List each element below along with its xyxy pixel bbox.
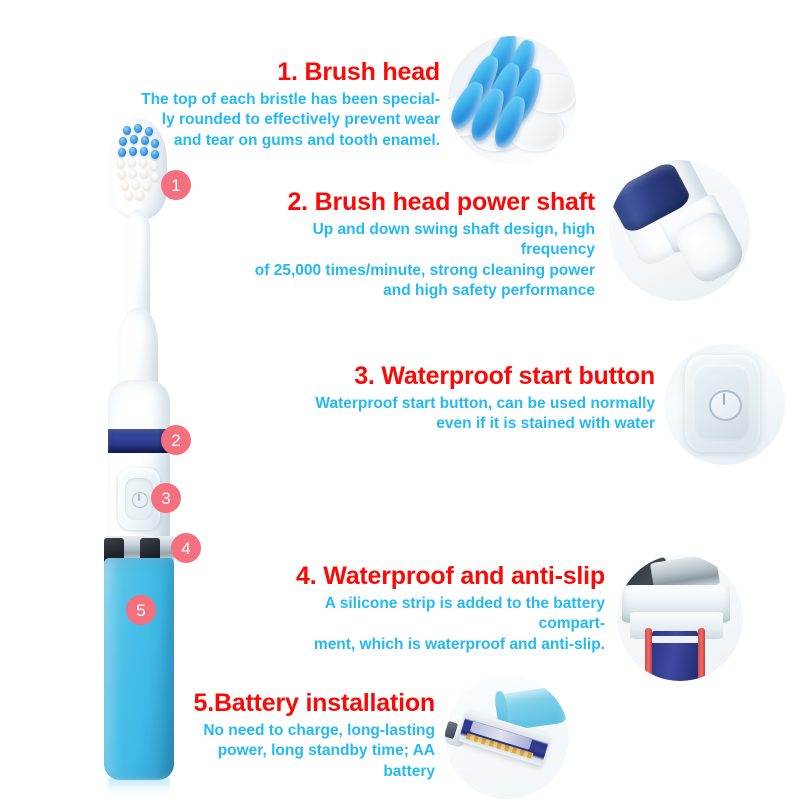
bristle-tuft — [118, 170, 126, 179]
feature-3-body-line: even if it is stained with water — [300, 414, 655, 434]
inset-image-2 — [609, 160, 750, 301]
feature-2-body-line: and high safety performance — [250, 281, 595, 301]
feature-2-body-line: Up and down swing shaft design, high fre… — [250, 220, 595, 261]
bristle-macro-art — [448, 36, 576, 164]
battery-compartment-art — [617, 555, 743, 681]
bristle-tuft — [117, 159, 125, 168]
bristle-tuft — [139, 158, 147, 167]
bristle-tuft — [140, 169, 148, 178]
inset-image-3 — [664, 344, 785, 465]
power-icon — [132, 492, 148, 508]
feature-1-body-line: The top of each bristle has been special… — [140, 90, 440, 110]
bristle-tuft — [151, 150, 159, 159]
aa-battery-art — [445, 675, 569, 799]
badge-3: 3 — [151, 483, 181, 513]
bristle-tuft — [125, 191, 133, 200]
power-icon — [709, 390, 742, 421]
feature-5-body: No need to charge, long-lasting power, l… — [190, 721, 435, 782]
handle-reflection — [108, 778, 170, 800]
waterproof-button-photo — [662, 342, 787, 467]
feature-5-title: 5.Battery installation — [190, 689, 435, 718]
feature-1-text: 1. Brush head The top of each bristle ha… — [140, 58, 440, 151]
inset-image-5 — [445, 675, 569, 799]
feature-4-title: 4. Waterproof and anti-slip — [260, 562, 605, 591]
badge-5: 5 — [126, 595, 156, 625]
feature-3-body: Waterproof start button, can be used nor… — [300, 394, 655, 435]
aa-battery-photo — [443, 673, 571, 800]
feature-3-body-line: Waterproof start button, can be used nor… — [300, 394, 655, 414]
waterproof-button-art — [664, 344, 785, 465]
bristle-tuft — [132, 180, 140, 189]
feature-4-text: 4. Waterproof and anti-slip A silicone s… — [260, 562, 605, 655]
bristle-tuft — [143, 181, 151, 190]
power-shaft-art — [609, 160, 750, 301]
feature-2-body: Up and down swing shaft design, high fre… — [250, 220, 595, 302]
feature-2-title: 2. Brush head power shaft — [250, 188, 595, 217]
feature-1-title: 1. Brush head — [140, 58, 440, 87]
bristle-tuft — [121, 181, 129, 190]
inset-image-1 — [448, 36, 576, 164]
inset-image-4 — [617, 555, 743, 681]
feature-1-body: The top of each bristle has been special… — [140, 90, 440, 151]
feature-2-body-line: of 25,000 times/minute, strong cleaning … — [250, 261, 595, 281]
brush-head-bristles-photo — [446, 34, 578, 166]
feature-5-body-line: No need to charge, long-lasting — [190, 721, 435, 741]
feature-3-title: 3. Waterproof start button — [300, 362, 655, 391]
feature-5-body-line: power, long standby time; AA — [190, 741, 435, 761]
bristle-tuft — [129, 169, 137, 178]
infographic-page: 1 2 3 4 5 1. Brush head The top of each … — [0, 0, 800, 800]
feature-4-body-line: A silicone strip is added to the battery… — [260, 594, 605, 635]
badge-4: 4 — [171, 533, 201, 563]
bristle-tuft — [123, 126, 131, 135]
power-icon-bar — [723, 393, 726, 405]
battery-handle — [104, 558, 174, 780]
battery-compartment-photo — [615, 553, 745, 683]
bristle-tuft — [150, 161, 158, 170]
feature-4-body: A silicone strip is added to the battery… — [260, 594, 605, 655]
power-shaft-photo — [607, 158, 752, 303]
bristle-tuft — [129, 147, 137, 156]
bristle-tuft — [119, 137, 127, 146]
bristle-tuft — [128, 158, 136, 167]
wire-red — [645, 628, 653, 681]
bristle-tuft — [130, 135, 138, 144]
feature-1-body-line: ly rounded to effectively prevent wear — [140, 110, 440, 130]
feature-4-body-line: ment, which is waterproof and anti-slip. — [260, 635, 605, 655]
motor-stripe — [652, 636, 697, 644]
bristle-tuft — [151, 172, 159, 181]
feature-5-body-line: battery — [190, 762, 435, 782]
feature-5-text: 5.Battery installation No need to charge… — [190, 689, 435, 782]
feature-1-body-line: and tear on gums and tooth enamel. — [140, 131, 440, 151]
bristle-tuft — [136, 191, 144, 200]
feature-2-text: 2. Brush head power shaft Up and down sw… — [250, 188, 595, 302]
badge-2: 2 — [161, 425, 191, 455]
bristle-tuft — [118, 148, 126, 157]
wire-red — [698, 628, 706, 681]
feature-3-text: 3. Waterproof start button Waterproof st… — [300, 362, 655, 435]
badge-1: 1 — [161, 170, 191, 200]
